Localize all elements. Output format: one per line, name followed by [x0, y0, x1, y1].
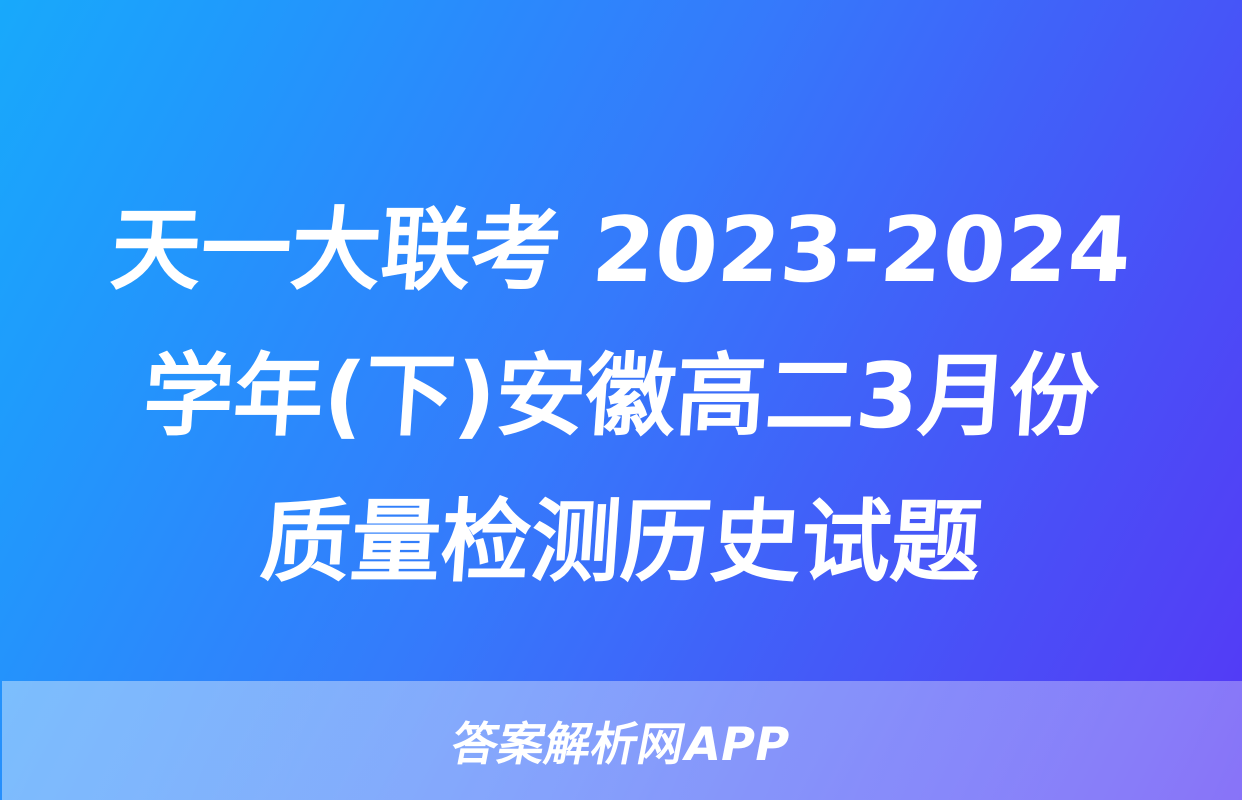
title-line-3: 质量检测历史试题 — [35, 470, 1207, 616]
title-line-1: 天一大联考 2023-2024 — [35, 178, 1207, 324]
watermark-band: 答案解析网APP — [2, 681, 1242, 800]
title-line-2: 学年(下)安徽高二3月份 — [35, 324, 1207, 470]
exam-cover-card: 天一大联考 2023-2024 学年(下)安徽高二3月份 质量检测历史试题 答案… — [0, 0, 1242, 800]
title-block: 天一大联考 2023-2024 学年(下)安徽高二3月份 质量检测历史试题 — [0, 178, 1242, 618]
app-watermark-label: 答案解析网APP — [447, 708, 797, 774]
